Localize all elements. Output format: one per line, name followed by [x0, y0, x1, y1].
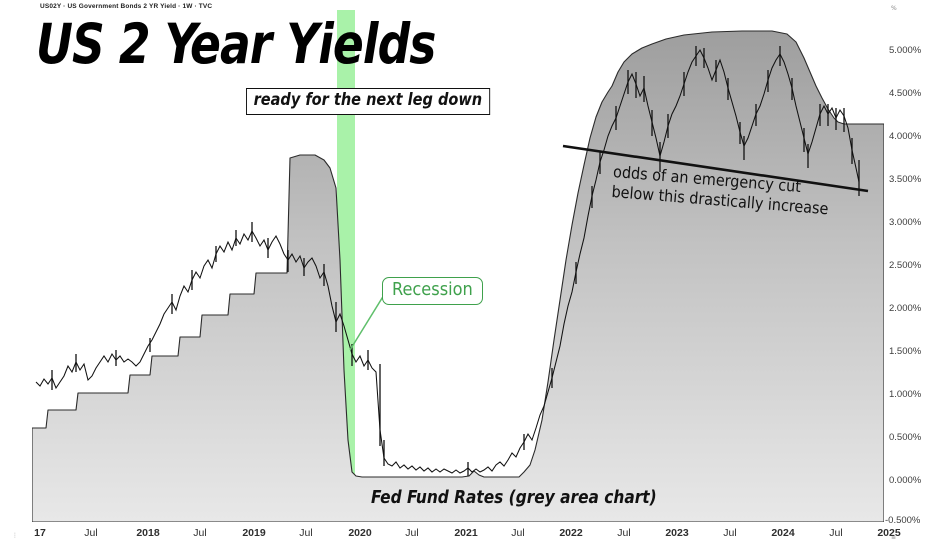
time-tick-jul-24: Jul	[829, 527, 842, 539]
time-tick-jul-22: Jul	[617, 527, 630, 539]
chart-svg	[32, 10, 884, 522]
price-tick-2500: 2.500%	[889, 260, 921, 271]
price-tick-1000: 1.000%	[889, 389, 921, 400]
price-tick-4500: 4.500%	[889, 88, 921, 99]
time-tick-2022: 2022	[559, 527, 582, 539]
time-tick-jul-21: Jul	[511, 527, 524, 539]
time-axis[interactable]: ⋮ 17 Jul 2018 Jul 2019 Jul 2020 Jul 2021…	[0, 524, 932, 550]
price-tick-3000: 3.000%	[889, 217, 921, 228]
page-title: US 2 Year Yields	[36, 12, 435, 76]
time-tick-2017: 17	[34, 527, 46, 539]
price-tick-3500: 3.500%	[889, 174, 921, 185]
time-tick-2021: 2021	[454, 527, 477, 539]
recession-callout-leader	[350, 295, 384, 350]
price-tick-4000: 4.000%	[889, 131, 921, 142]
time-tick-2018: 2018	[136, 527, 159, 539]
time-tick-2019: 2019	[242, 527, 265, 539]
time-tick-jul-18: Jul	[193, 527, 206, 539]
time-tick-2020: 2020	[348, 527, 371, 539]
price-axis-unit: %	[891, 5, 897, 12]
price-tick-1500: 1.500%	[889, 346, 921, 357]
time-tick-2024: 2024	[771, 527, 794, 539]
recession-callout-label: Recession	[382, 277, 483, 305]
time-tick-jul-19: Jul	[299, 527, 312, 539]
time-tick-2023: 2023	[665, 527, 688, 539]
time-tick-jul-20: Jul	[405, 527, 418, 539]
chart-plot-area[interactable]	[32, 10, 884, 522]
price-tick-0500: 0.500%	[889, 432, 921, 443]
chart-screenshot: US02Y · US Government Bonds 2 YR Yield ·…	[0, 0, 932, 550]
fed-fund-rates-label: Fed Fund Rates (grey area chart)	[371, 487, 657, 508]
price-tick-0000: 0.000%	[889, 475, 921, 486]
time-tick-jul-23: Jul	[723, 527, 736, 539]
price-tick-2000: 2.000%	[889, 303, 921, 314]
time-tick-2025: 2025	[877, 527, 900, 539]
price-tick-5000: 5.000%	[889, 45, 921, 56]
subtitle-callout: ready for the next leg down	[246, 88, 490, 115]
time-axis-menu-icon[interactable]: ⋮	[12, 532, 18, 539]
price-axis[interactable]: % 5.000% 4.500% 4.000% 3.500% 3.000% 2.5…	[884, 0, 932, 550]
time-tick-jul-17: Jul	[84, 527, 97, 539]
symbol-header: US02Y · US Government Bonds 2 YR Yield ·…	[40, 3, 212, 10]
